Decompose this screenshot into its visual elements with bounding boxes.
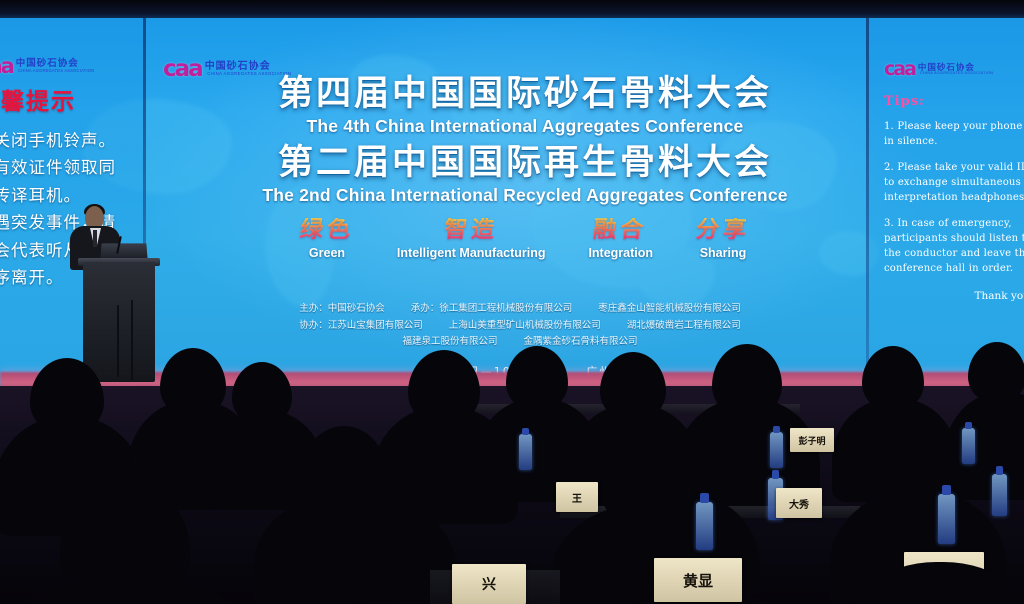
name-card: 兴 [452,564,526,604]
slogan-zh: 智造 [396,218,547,241]
name-card: 黄显 [654,558,742,602]
left-notice-line: 请关闭手机铃声。 [0,128,144,154]
caa-wordmark: caa [884,58,915,80]
slogan-integration: 融合 Integration [588,218,653,260]
sponsor-organizer-2: 枣庄鑫金山智能机械股份有限公司 [598,301,741,318]
tips-heading: Tips: [884,94,1024,109]
sponsor-row-3: 福建泉工股份有限公司 金隅紫金砂石骨料有限公司 [150,334,890,351]
slogan-en: Green [300,246,354,260]
caa-logo-english: CHINA AGGREGATES ASSOCIATION [920,71,993,75]
left-notice-heading: 温馨提示 [0,88,144,116]
water-bottle [938,494,955,544]
sponsor-coorganizer-3: 湖北爆破凿岩工程有限公司 [627,318,741,335]
conference-title-block: 第四届中国国际砂石骨料大会 The 4th China Internationa… [180,76,870,208]
speaker-tie [93,230,97,247]
slogan-row: 绿色 Green 智造 Intelligent Manufacturing 融合… [300,218,750,260]
slogan-zh: 分享 [695,218,751,241]
cable [131,300,133,380]
tip-item-1: 1. Please keep your phone in silence. [884,119,1024,149]
right-panel-tips: Tips: 1. Please keep your phone in silen… [884,94,1024,302]
sponsor-organizer: 承办：徐工集团工程机械股份有限公司 [411,301,573,318]
title-english-primary: The 4th China International Aggregates C… [180,115,870,139]
audience-area: 彭子明 王 大秀 兴 黄显 王 [0,386,1024,604]
water-bottle [992,474,1007,516]
left-notice-line: 凭有效证件领取同 [0,155,144,181]
slogan-en: Integration [588,246,653,260]
slogan-zh: 融合 [587,218,654,241]
sponsor-coorganizer-4: 福建泉工股份有限公司 [402,334,497,351]
tips-closing: Thank you [884,290,1024,302]
cable [117,305,119,377]
slogan-green: 绿色 Green [300,218,354,260]
tip-item-3: 3. In case of emergency, participants sh… [884,216,1024,276]
water-bottle [696,502,713,550]
slogan-sharing: 分享 Sharing [696,218,750,260]
title-chinese-secondary: 第二届中国国际再生骨料大会 [180,145,870,183]
name-card: 王 [556,482,598,512]
left-notice-line: 声传译耳机。 [0,183,144,209]
caa-logo-english: CHINA AGGREGATES ASSOCIATION [18,69,94,73]
name-card: 彭子明 [790,428,834,452]
sponsor-host: 主办：中国砂石协会 [299,301,385,318]
ceiling-edge [0,0,1024,20]
slogan-en: Intelligent Manufacturing [397,246,546,260]
sponsor-row-2: 协办：江苏山宝集团有限公司 上海山美重型矿山机械股份有限公司 湖北爆破凿岩工程有… [150,318,890,335]
conference-photo: caa 中国砂石协会 CHINA AGGREGATES ASSOCIATION … [0,0,1024,604]
title-english-secondary: The 2nd China International Recycled Agg… [180,184,870,208]
sponsor-coorganizer-2: 上海山美重型矿山机械股份有限公司 [449,318,601,335]
caa-wordmark: caa [0,54,13,78]
slogan-intelligent-manufacturing: 智造 Intelligent Manufacturing [397,218,546,260]
slogan-en: Sharing [696,246,750,260]
caa-logo-left: caa 中国砂石协会 CHINA AGGREGATES ASSOCIATION [0,54,96,78]
caa-logo-right: caa 中国砂石协会 CHINA AGGREGATES ASSOCIATION [884,58,995,80]
audience-shoulders [0,576,260,604]
water-bottle [962,428,975,464]
title-chinese-primary: 第四届中国国际砂石骨料大会 [180,76,870,114]
water-bottle [770,432,783,468]
water-bottle [519,434,532,470]
slogan-zh: 绿色 [299,218,355,241]
tip-item-2: 2. Please take your valid ID to exchange… [884,160,1024,205]
sponsor-coorganizer-1: 协办：江苏山宝集团有限公司 [299,318,423,335]
sponsor-row-1: 主办：中国砂石协会 承办：徐工集团工程机械股份有限公司 枣庄鑫金山智能机械股份有… [150,301,890,318]
sponsor-block: 主办：中国砂石协会 承办：徐工集团工程机械股份有限公司 枣庄鑫金山智能机械股份有… [150,301,890,351]
name-card: 大秀 [776,488,822,518]
speaker-podium [83,262,155,382]
